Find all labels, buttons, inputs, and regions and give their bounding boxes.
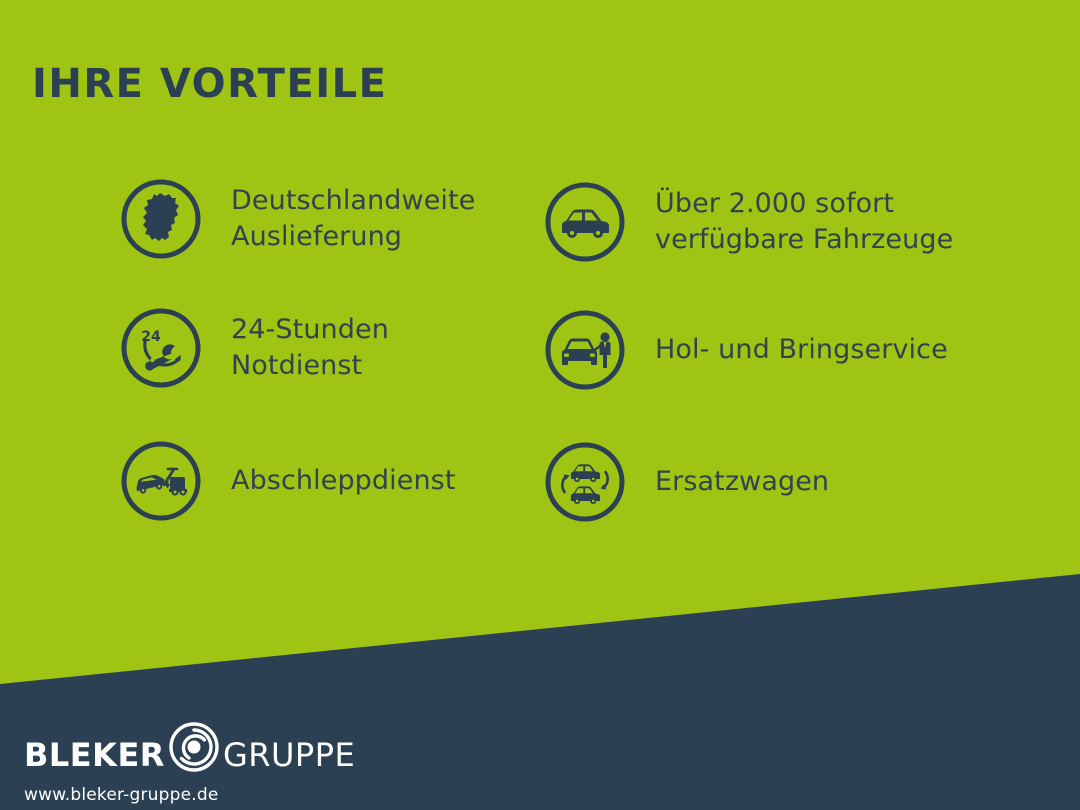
benefit-label: Hol- und Bringservice (655, 332, 948, 368)
green-angled-background (0, 0, 1080, 810)
benefit-label: Ersatzwagen (655, 464, 829, 500)
brand-name-bold: BLEKER (24, 739, 165, 771)
benefit-item-ersatzwagen: Ersatzwagen (543, 440, 829, 524)
benefit-item-verfuegbare-fahrzeuge: Über 2.000 sofort verfügbare Fahrzeuge (543, 180, 953, 264)
benefit-item-abschleppdienst: Abschleppdienst (119, 439, 456, 523)
benefit-label: Abschleppdienst (231, 463, 456, 499)
benefit-item-deutschlandweite-auslieferung: Deutschlandweite Auslieferung (119, 177, 475, 261)
benefit-item-24-stunden-notdienst: 24 24-Stunden Notdienst (119, 306, 389, 390)
benefit-item-hol-und-bringservice: Hol- und Bringservice (543, 308, 948, 392)
tow-truck-icon (119, 439, 203, 523)
benefit-label: Deutschlandweite Auslieferung (231, 183, 475, 254)
footer-logo: BLEKER GRUPPE (24, 735, 355, 775)
car-side-icon (543, 180, 627, 264)
slide-canvas: IHRE VORTEILE Deutschlandweite Ausliefer… (0, 0, 1080, 810)
car-with-driver-icon (543, 308, 627, 392)
footer-url[interactable]: www.bleker-gruppe.de (24, 785, 219, 805)
car-swap-icon (543, 440, 627, 524)
benefit-label: Über 2.000 sofort verfügbare Fahrzeuge (655, 186, 953, 257)
germany-map-icon (119, 177, 203, 261)
page-title: IHRE VORTEILE (32, 64, 387, 104)
brand-name-light: GRUPPE (223, 739, 355, 771)
24-hour-wrench-icon: 24 (119, 306, 203, 390)
svg-text:24: 24 (141, 329, 161, 345)
spiral-circle-logo-icon (167, 720, 221, 774)
benefit-label: 24-Stunden Notdienst (231, 312, 389, 383)
